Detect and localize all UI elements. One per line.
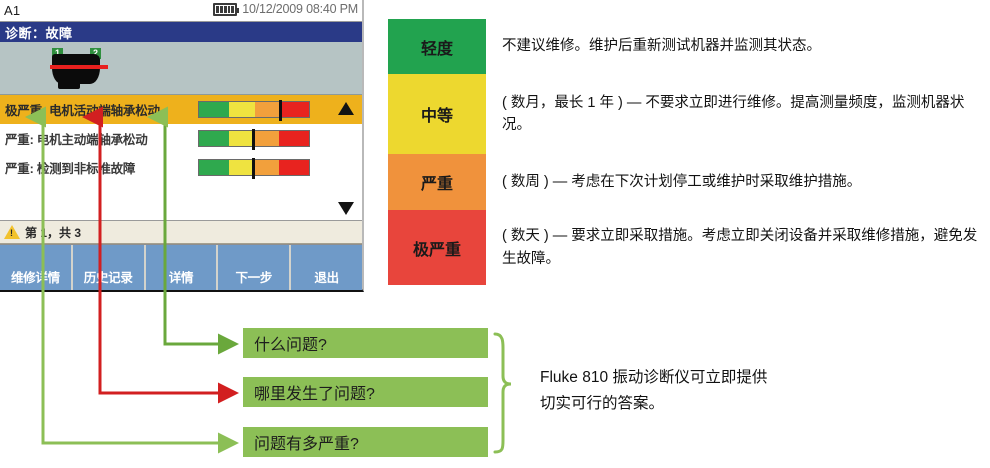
warning-triangle-icon	[4, 225, 20, 239]
page-indicator-label: 第 1，共 3	[25, 224, 81, 241]
motor-body-icon	[52, 54, 100, 84]
machine-diagram-pane: 1 2	[0, 42, 362, 95]
tagline: Fluke 810 振动诊断仪可立即提供 切实可行的答案。	[540, 365, 940, 416]
battery-icon	[213, 3, 237, 16]
callout-label: 什么问题?	[254, 331, 327, 355]
legend-description: ( 数月，最长 1 年 ) — 不要求立即进行维修。提高测量频度，监测机器状况。	[486, 74, 984, 154]
severity-bar	[198, 130, 310, 147]
legend-level-label: 中等	[388, 74, 486, 154]
severity-marker	[279, 100, 282, 121]
motor-shaft-icon	[50, 65, 108, 69]
legend-level-label: 极严重	[388, 210, 486, 285]
screen-title: 诊断：故障	[5, 23, 73, 42]
legend-level-label: 轻度	[388, 19, 486, 74]
legend-row-slight: 轻度 不建议维修。维护后重新测试机器并监测其状态。	[388, 19, 984, 74]
severity-legend-table: 轻度 不建议维修。维护后重新测试机器并监测其状态。 中等 ( 数月，最长 1 年…	[388, 19, 984, 285]
callout-how-severe: 问题有多严重?	[243, 427, 488, 457]
callout-brace	[495, 334, 511, 452]
fault-row[interactable]: 严重: 检测到非标准故障	[0, 153, 362, 182]
severity-marker	[252, 158, 255, 179]
device-status-bar: A1 10/12/2009 08:40 PM	[0, 0, 362, 22]
severity-marker	[252, 129, 255, 150]
legend-description: ( 数周 ) — 考虑在下次计划停工或维护时采取维护措施。	[486, 154, 984, 210]
tagline-line-1: Fluke 810 振动诊断仪可立即提供	[540, 365, 940, 391]
fault-row[interactable]: 严重: 电机主动端轴承松动	[0, 124, 362, 153]
repair-details-button[interactable]: 维修详情	[0, 245, 73, 290]
fault-row[interactable]: 极严重: 电机活动端轴承松动	[0, 95, 362, 124]
legend-level-label: 严重	[388, 154, 486, 210]
callout-what-problem: 什么问题?	[243, 328, 488, 358]
legend-row-serious: 严重 ( 数周 ) — 考虑在下次计划停工或维护时采取维护措施。	[388, 154, 984, 210]
fault-label: 极严重: 电机活动端轴承松动	[5, 100, 160, 119]
device-toolbar: 维修详情 历史记录 详情 下一步 退出	[0, 244, 362, 290]
legend-row-moderate: 中等 ( 数月，最长 1 年 ) — 不要求立即进行维修。提高测量频度，监测机器…	[388, 74, 984, 154]
device-screen: A1 10/12/2009 08:40 PM 诊断：故障 1 2 极严重: 电机…	[0, 0, 364, 292]
fault-list[interactable]: 极严重: 电机活动端轴承松动 严重: 电机主动端轴承松动 严重: 检测到非标准故…	[0, 95, 362, 221]
fault-label: 严重: 电机主动端轴承松动	[5, 129, 148, 148]
callout-label: 哪里发生了问题?	[254, 380, 375, 404]
screen-title-bar: 诊断：故障	[0, 22, 362, 42]
motor-base-icon	[58, 82, 80, 89]
callout-where-problem: 哪里发生了问题?	[243, 377, 488, 407]
details-button[interactable]: 详情	[146, 245, 219, 290]
history-button[interactable]: 历史记录	[73, 245, 146, 290]
exit-button[interactable]: 退出	[291, 245, 362, 290]
fault-list-scrollbar[interactable]	[336, 95, 358, 220]
page-status-bar: 第 1，共 3	[0, 221, 362, 244]
scroll-up-icon[interactable]	[338, 102, 354, 115]
status-bar-right: 10/12/2009 08:40 PM	[213, 2, 358, 16]
timestamp-label: 10/12/2009 08:40 PM	[242, 2, 358, 16]
callout-label: 问题有多严重?	[254, 430, 359, 454]
fault-label: 严重: 检测到非标准故障	[5, 158, 135, 177]
legend-row-extreme: 极严重 ( 数天 ) — 要求立即采取措施。考虑立即关闭设备并采取维修措施，避免…	[388, 210, 984, 285]
next-button[interactable]: 下一步	[218, 245, 291, 290]
legend-description: 不建议维修。维护后重新测试机器并监测其状态。	[486, 19, 984, 74]
machine-id-label: A1	[4, 3, 20, 18]
legend-description: ( 数天 ) — 要求立即采取措施。考虑立即关闭设备并采取维修措施，避免发生故障…	[486, 210, 984, 285]
severity-bar	[198, 101, 310, 118]
tagline-line-2: 切实可行的答案。	[540, 391, 940, 417]
scroll-down-icon[interactable]	[338, 202, 354, 215]
severity-bar	[198, 159, 310, 176]
